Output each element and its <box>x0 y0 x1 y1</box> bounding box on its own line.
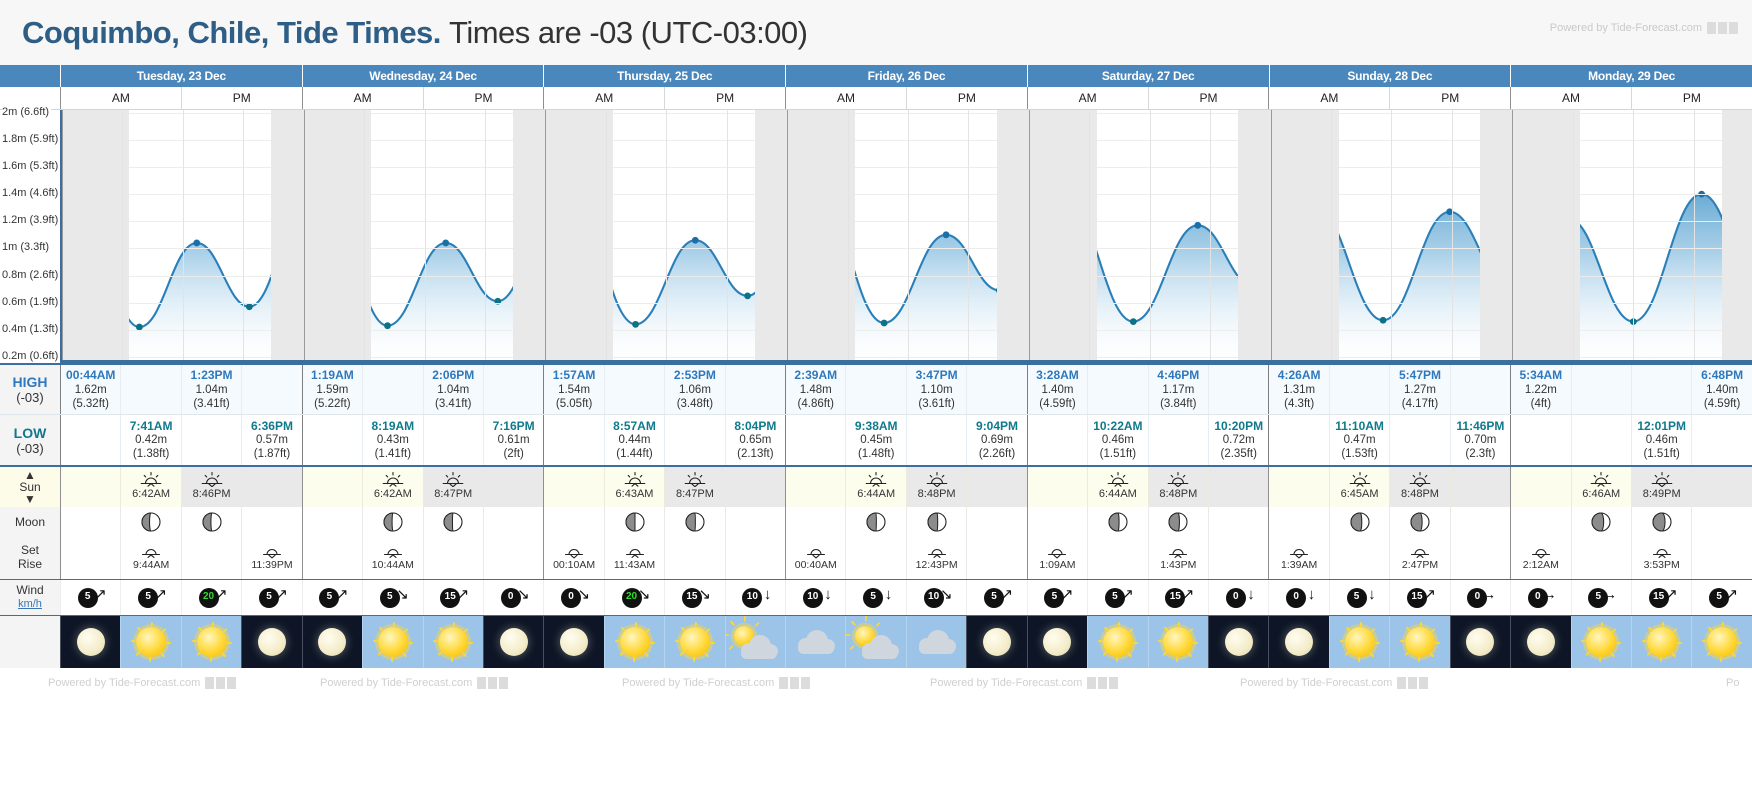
y-axis-tick-4: 1.2m (3.9ft) <box>2 214 60 226</box>
moon-phase-cell-empty <box>1268 507 1328 537</box>
moon-phase-cell-empty <box>483 507 543 537</box>
low-tide-cell-empty <box>906 415 966 465</box>
high-tide-cell-empty <box>1087 365 1147 414</box>
low-tide-height-m: 0.47m <box>1344 433 1376 447</box>
wind-cell[interactable]: 5↗ <box>120 580 180 615</box>
gridline-vertical <box>848 110 849 360</box>
sunset-cell[interactable]: 8:46PM <box>181 467 241 507</box>
wind-direction-arrow-icon: ↗ <box>1423 587 1436 602</box>
moon-phase-cell-empty <box>966 507 1026 537</box>
moon-phase-cell[interactable] <box>1571 507 1631 537</box>
moon-icon <box>1285 628 1313 656</box>
weather-cell[interactable] <box>302 616 362 668</box>
tide-point-high-2[interactable] <box>193 240 200 247</box>
moon-phase-icon <box>866 512 886 532</box>
low-tide-cell[interactable]: 7:16PM0.61m(2ft) <box>483 415 543 465</box>
high-tide-cell[interactable]: 5:34AM1.22m(4ft) <box>1510 365 1570 414</box>
wind-cell[interactable]: 15↗ <box>1148 580 1208 615</box>
day-header-0[interactable]: Tuesday, 23 Dec <box>60 65 302 87</box>
day-header-1[interactable]: Wednesday, 24 Dec <box>302 65 544 87</box>
wind-cell[interactable]: 20↘ <box>604 580 664 615</box>
wind-badge: 5↘ <box>378 585 408 611</box>
moonrise-icon <box>1289 545 1309 559</box>
wind-direction-arrow-icon: ↓ <box>885 587 893 602</box>
moonset-icon <box>141 545 161 559</box>
moon-event-cell[interactable]: 1:39AM <box>1268 537 1328 579</box>
sun-icon <box>1647 627 1677 657</box>
high-tide-time: 5:47PM <box>1399 368 1441 383</box>
wind-direction-arrow-icon: → <box>1602 587 1617 602</box>
high-tide-height-ft: (3.41ft) <box>193 397 229 411</box>
moonrise-icon <box>1289 545 1309 559</box>
weather-cell[interactable] <box>120 616 180 668</box>
high-tide-height-ft: (4ft) <box>1531 397 1551 411</box>
day-header-2[interactable]: Thursday, 25 Dec <box>543 65 785 87</box>
low-tide-height-ft: (1.44ft) <box>616 447 652 461</box>
high-tide-cell[interactable]: 4:26AM1.31m(4.3ft) <box>1268 365 1328 414</box>
weather-icon-row <box>0 616 1752 668</box>
moon-event-cell[interactable]: 1:09AM <box>1027 537 1087 579</box>
sunset-cell[interactable]: 8:48PM <box>1389 467 1449 507</box>
sunset-cell[interactable]: 8:48PM <box>906 467 966 507</box>
weather-cell[interactable] <box>60 616 120 668</box>
wind-cell[interactable]: 5↘ <box>362 580 422 615</box>
low-tide-cell[interactable]: 7:41AM0.42m(1.38ft) <box>120 415 180 465</box>
low-tide-height-ft: (1.51ft) <box>1100 447 1136 461</box>
low-tide-cell-empty <box>664 415 724 465</box>
weather-cell[interactable] <box>241 616 301 668</box>
tide-point-low-7[interactable] <box>494 298 501 305</box>
sun-icon <box>197 627 227 657</box>
weather-cell[interactable] <box>906 616 966 668</box>
wind-badge: 15↘ <box>680 585 710 611</box>
night-band <box>755 110 787 360</box>
moon-phase-cell[interactable] <box>604 507 664 537</box>
weather-cell[interactable] <box>423 616 483 668</box>
moon-event-cell[interactable]: 2:12AM <box>1510 537 1570 579</box>
wind-cell[interactable]: 5↗ <box>1691 580 1751 615</box>
weather-cell[interactable] <box>1208 616 1268 668</box>
moon-event-cell[interactable]: 10:44AM <box>362 537 422 579</box>
moon-phase-icon <box>383 512 403 532</box>
low-tide-cell[interactable]: 9:38AM0.45m(1.48ft) <box>845 415 905 465</box>
tide-point-low-11[interactable] <box>744 292 751 299</box>
wind-cell[interactable]: 5↗ <box>60 580 120 615</box>
sunset-icon <box>201 472 223 487</box>
moon-phase-icon <box>1350 512 1370 532</box>
high-tide-height-ft: (3.61ft) <box>918 397 954 411</box>
moon-event-cell-empty <box>423 537 483 579</box>
wind-cell[interactable]: 0↘ <box>543 580 603 615</box>
wind-cell[interactable]: 5↓ <box>1329 580 1389 615</box>
low-tide-cell-empty <box>785 415 845 465</box>
wind-cell[interactable]: 15↗ <box>423 580 483 615</box>
high-tide-cell-empty <box>966 365 1026 414</box>
sunrise-cell[interactable]: 6:42AM <box>362 467 422 507</box>
night-band <box>545 110 613 360</box>
high-tide-cell[interactable]: 5:47PM1.27m(4.17ft) <box>1389 365 1449 414</box>
high-tide-height-ft: (4.86ft) <box>798 397 834 411</box>
high-tide-time: 3:47PM <box>916 368 958 383</box>
wind-cell[interactable]: 5↗ <box>966 580 1026 615</box>
sun-row-label: ▲ Sun ▼ <box>0 467 60 507</box>
moon-icon <box>1527 628 1555 656</box>
wind-cell[interactable]: 0→ <box>1450 580 1510 615</box>
moon-phase-cell[interactable] <box>120 507 180 537</box>
moon-phase-icon <box>685 512 705 532</box>
low-tide-cell[interactable]: 10:20PM0.72m(2.35ft) <box>1208 415 1268 465</box>
wind-unit-link[interactable]: km/h <box>18 598 42 611</box>
day-header-3[interactable]: Friday, 26 Dec <box>785 65 1027 87</box>
moon-event-cell[interactable]: 11:43AM <box>604 537 664 579</box>
wind-direction-arrow-icon: ↗ <box>1061 587 1074 602</box>
wind-cell[interactable]: 0↓ <box>1208 580 1268 615</box>
sun-cell-empty <box>1208 467 1268 507</box>
moon-event-time: 2:12AM <box>1523 559 1559 572</box>
gridline-vertical <box>122 110 123 360</box>
moon-phase-cell[interactable] <box>845 507 905 537</box>
footer-logo-icons <box>779 677 810 689</box>
moon-phase-cell[interactable] <box>1087 507 1147 537</box>
sunset-cell[interactable]: 8:49PM <box>1631 467 1691 507</box>
ampm-header-1-am: AM <box>302 87 423 109</box>
high-tide-time: 2:53PM <box>674 368 716 383</box>
night-band <box>1512 110 1580 360</box>
tide-point-high-14[interactable] <box>943 231 950 238</box>
high-tide-height-m: 1.54m <box>558 383 590 397</box>
high-tide-height-ft: (4.59ft) <box>1039 397 1075 411</box>
sun-icon <box>438 627 468 657</box>
gridline-vertical <box>1512 110 1513 360</box>
high-tide-row-label: HIGH (-03) <box>0 365 60 414</box>
high-tide-time: 2:06PM <box>432 368 474 383</box>
sunset-cell[interactable]: 8:47PM <box>664 467 724 507</box>
moon-event-cell[interactable]: 1:43PM <box>1148 537 1208 579</box>
moon-phase-cell-empty <box>1450 507 1510 537</box>
moonset-icon <box>383 545 403 559</box>
wind-direction-arrow-icon: ↓ <box>824 587 832 602</box>
moon-icon <box>500 628 528 656</box>
moon-icon <box>983 628 1011 656</box>
wind-direction-arrow-icon: ↘ <box>698 587 711 602</box>
weather-cell[interactable] <box>1691 616 1751 668</box>
low-tide-time: 10:22AM <box>1093 419 1142 434</box>
sun-icon <box>1163 627 1193 657</box>
low-tide-cell[interactable]: 8:57AM0.44m(1.44ft) <box>604 415 664 465</box>
wind-direction-arrow-icon: ↗ <box>1726 587 1739 602</box>
moon-row-label: Moon <box>0 507 60 537</box>
wind-badge: 5↗ <box>317 585 347 611</box>
wind-row: Wind km/h 5↗5↗20↗5↗5↗5↘15↗0↘0↘20↘15↘10↓1… <box>0 579 1752 616</box>
moon-event-cell-empty <box>302 537 362 579</box>
high-tide-height-ft: (4.3ft) <box>1284 397 1314 411</box>
high-tide-cell[interactable]: 2:06PM1.04m(3.41ft) <box>423 365 483 414</box>
sunrise-cell[interactable]: 6:43AM <box>604 467 664 507</box>
tide-point-low-3[interactable] <box>246 303 253 310</box>
tide-forecast-page: Coquimbo, Chile, Tide Times. Times are -… <box>0 0 1752 787</box>
tide-point-low-13[interactable] <box>881 320 888 327</box>
weather-cell[interactable] <box>1450 616 1510 668</box>
low-tide-cell[interactable]: 11:46PM0.70m(2.3ft) <box>1450 415 1510 465</box>
moon-phase-icon <box>927 512 947 532</box>
high-tide-cell[interactable]: 3:28AM1.40m(4.59ft) <box>1027 365 1087 414</box>
weather-cell[interactable] <box>1027 616 1087 668</box>
moonset-icon <box>1652 545 1672 559</box>
tide-point-high-18[interactable] <box>1194 222 1201 229</box>
sunset-time: 8:47PM <box>434 488 472 501</box>
wind-cell[interactable]: 15↗ <box>1389 580 1449 615</box>
low-tide-time: 11:46PM <box>1456 419 1504 434</box>
footer-credit-label: Powered by Tide-Forecast.com <box>930 677 1082 689</box>
night-band <box>787 110 855 360</box>
low-tide-row-label: LOW (-03) <box>0 415 60 465</box>
weather-cell[interactable] <box>543 616 603 668</box>
sunset-icon <box>684 472 706 487</box>
high-tide-cell[interactable]: 2:53PM1.06m(3.48ft) <box>664 365 724 414</box>
wind-cell[interactable]: 10↓ <box>785 580 845 615</box>
moon-event-cell-empty <box>966 537 1026 579</box>
wind-badge: 0↘ <box>499 585 529 611</box>
moon-event-cell[interactable]: 11:39PM <box>241 537 301 579</box>
moon-setrise-row: Set Rise 9:44AM 11:39PM 10:44AM 00:10AM <box>0 537 1752 579</box>
moon-phase-icon <box>625 512 645 532</box>
ampm-header-4-pm: PM <box>1148 87 1269 109</box>
wind-cell[interactable]: 0↘ <box>483 580 543 615</box>
high-tide-time: 1:57AM <box>553 368 596 383</box>
sun-down-arrow-icon: ▼ <box>24 493 36 505</box>
sunrise-icon <box>865 472 887 487</box>
moon-phase-icon <box>685 512 705 532</box>
moon-event-cell[interactable]: 2:47PM <box>1389 537 1449 579</box>
high-tide-cell[interactable]: 1:23PM1.04m(3.41ft) <box>181 365 241 414</box>
moon-phase-row: Moon <box>0 507 1752 537</box>
low-tide-cell[interactable]: 8:19AM0.43m(1.41ft) <box>362 415 422 465</box>
weather-cell[interactable] <box>966 616 1026 668</box>
moon-phase-cell[interactable] <box>1389 507 1449 537</box>
low-tide-cell[interactable]: 11:10AM0.47m(1.53ft) <box>1329 415 1389 465</box>
low-tide-cell-empty <box>1571 415 1631 465</box>
high-tide-cell[interactable]: 1:57AM1.54m(5.05ft) <box>543 365 603 414</box>
high-tide-row: HIGH (-03) 00:44AM1.62m(5.32ft)1:23PM1.0… <box>0 363 1752 415</box>
sunrise-cell[interactable]: 6:45AM <box>1329 467 1389 507</box>
wind-cell[interactable]: 5↗ <box>302 580 362 615</box>
wind-direction-arrow-icon: ↗ <box>457 587 470 602</box>
weather-cell[interactable] <box>483 616 543 668</box>
weather-cell[interactable] <box>725 616 785 668</box>
moon-phase-cell[interactable] <box>906 507 966 537</box>
cloud-icon <box>918 630 956 654</box>
ampm-header-0-am: AM <box>60 87 181 109</box>
high-tide-cell[interactable]: 4:46PM1.17m(3.84ft) <box>1148 365 1208 414</box>
wind-cell[interactable]: 20↗ <box>181 580 241 615</box>
gridline-vertical <box>1271 110 1272 360</box>
weather-cell[interactable] <box>1510 616 1570 668</box>
moon-event-cell-empty <box>664 537 724 579</box>
wind-cell[interactable]: 0→ <box>1510 580 1570 615</box>
gridline-vertical <box>304 110 305 360</box>
high-tide-cell-empty <box>725 365 785 414</box>
wind-cell[interactable]: 5↗ <box>1027 580 1087 615</box>
low-tide-height-ft: (2ft) <box>503 447 523 461</box>
sun-icon <box>1586 627 1616 657</box>
tide-point-high-10[interactable] <box>692 237 699 244</box>
wind-badge: 15↗ <box>1163 585 1193 611</box>
weather-cell[interactable] <box>1087 616 1147 668</box>
high-tide-cell[interactable]: 00:44AM1.62m(5.32ft) <box>60 365 120 414</box>
high-tide-cell-empty <box>120 365 180 414</box>
sunrise-icon <box>624 472 646 487</box>
sunrise-icon <box>865 472 887 487</box>
sunrise-time: 6:44AM <box>1099 488 1137 501</box>
day-header-6[interactable]: Monday, 29 Dec <box>1510 65 1752 87</box>
weather-cell[interactable] <box>1148 616 1208 668</box>
logo-icon <box>779 677 788 689</box>
moon-event-cell[interactable]: 3:53PM <box>1631 537 1691 579</box>
header-credit-label: Powered by Tide-Forecast.com <box>1550 22 1702 34</box>
high-tide-time: 1:19AM <box>311 368 354 383</box>
gridline-vertical <box>1029 110 1030 360</box>
high-tide-cell[interactable]: 6:48PM1.40m(4.59ft) <box>1691 365 1751 414</box>
low-tide-cell[interactable]: 9:04PM0.69m(2.26ft) <box>966 415 1026 465</box>
wind-badge: 0↓ <box>1284 585 1314 611</box>
low-tide-cell-empty <box>1027 415 1087 465</box>
wind-badge: 0↘ <box>559 585 589 611</box>
gridline-vertical <box>666 110 667 360</box>
moon-phase-cell[interactable] <box>181 507 241 537</box>
wind-cell[interactable]: 10↘ <box>906 580 966 615</box>
tide-point-low-9[interactable] <box>632 321 639 328</box>
moon-phase-icon <box>202 512 222 532</box>
low-tide-time: 6:36PM <box>251 419 293 434</box>
weather-cell[interactable] <box>845 616 905 668</box>
wind-direction-arrow-icon: → <box>1542 587 1557 602</box>
high-tide-cell[interactable]: 3:47PM1.10m(3.61ft) <box>906 365 966 414</box>
wind-cell[interactable]: 15↘ <box>664 580 724 615</box>
moon-phase-cell[interactable] <box>1148 507 1208 537</box>
gridline-vertical <box>1573 110 1574 360</box>
wind-cell[interactable]: 10↓ <box>725 580 785 615</box>
low-tide-time: 8:57AM <box>613 419 656 434</box>
moon-phase-cell[interactable] <box>1329 507 1389 537</box>
day-header-4[interactable]: Saturday, 27 Dec <box>1027 65 1269 87</box>
sunset-cell[interactable]: 8:47PM <box>423 467 483 507</box>
wind-cell[interactable]: 5↗ <box>241 580 301 615</box>
sun-cell-empty <box>725 467 785 507</box>
moon-event-cell[interactable]: 00:40AM <box>785 537 845 579</box>
wind-cell[interactable]: 15↗ <box>1631 580 1691 615</box>
high-tide-cell-empty <box>1450 365 1510 414</box>
low-tide-cell[interactable]: 12:01PM0.46m(1.51ft) <box>1631 415 1691 465</box>
weather-cell[interactable] <box>664 616 724 668</box>
moon-event-cell[interactable]: 9:44AM <box>120 537 180 579</box>
high-tide-cell[interactable]: 2:39AM1.48m(4.86ft) <box>785 365 845 414</box>
sunrise-cell[interactable]: 6:42AM <box>120 467 180 507</box>
moon-event-cell[interactable]: 12:43PM <box>906 537 966 579</box>
sunrise-cell[interactable]: 6:46AM <box>1571 467 1631 507</box>
sun-cell-empty <box>1268 467 1328 507</box>
footer-credit: Powered by Tide-Forecast.com <box>622 677 810 689</box>
tide-point-low-17[interactable] <box>1130 318 1137 325</box>
day-header-label: Saturday, 27 Dec <box>1102 69 1195 83</box>
wind-cell[interactable]: 5↓ <box>845 580 905 615</box>
moon-phase-cell[interactable] <box>664 507 724 537</box>
sun-icon <box>620 627 650 657</box>
low-tide-cell[interactable]: 6:36PM0.57m(1.87ft) <box>241 415 301 465</box>
low-tide-height-m: 0.44m <box>619 433 651 447</box>
sunset-icon <box>926 472 948 487</box>
weather-cell[interactable] <box>1571 616 1631 668</box>
moon-icon <box>1466 628 1494 656</box>
high-tide-cell-empty <box>1631 365 1691 414</box>
weather-cell[interactable] <box>181 616 241 668</box>
low-tide-time: 11:10AM <box>1335 419 1384 434</box>
moonrise-icon <box>564 545 584 559</box>
moon-phase-cell[interactable] <box>1631 507 1691 537</box>
sunrise-cell[interactable]: 6:44AM <box>1087 467 1147 507</box>
high-tide-time: 4:46PM <box>1157 368 1199 383</box>
moon-phase-icon <box>383 512 403 532</box>
ampm-header-6-pm: PM <box>1631 87 1752 109</box>
high-tide-cell[interactable]: 1:19AM1.59m(5.22ft) <box>302 365 362 414</box>
weather-cell[interactable] <box>1389 616 1449 668</box>
weather-cell[interactable] <box>1631 616 1691 668</box>
moon-event-cell[interactable]: 00:10AM <box>543 537 603 579</box>
moon-phase-icon <box>1410 512 1430 532</box>
moonrise-icon <box>1531 545 1551 559</box>
moonset-icon <box>625 545 645 559</box>
moon-event-time: 11:43AM <box>614 559 655 572</box>
sunrise-time: 6:42AM <box>132 488 170 501</box>
moon-phase-cell[interactable] <box>362 507 422 537</box>
weather-cell[interactable] <box>362 616 422 668</box>
high-tide-height-m: 1.04m <box>196 383 228 397</box>
y-axis-tick-7: 0.6m (1.9ft) <box>2 296 60 308</box>
day-header-5[interactable]: Sunday, 28 Dec <box>1269 65 1511 87</box>
night-band <box>1271 110 1339 360</box>
low-tide-cell[interactable]: 8:04PM0.65m(2.13ft) <box>725 415 785 465</box>
tide-point-low-21[interactable] <box>1380 317 1387 324</box>
wind-cell[interactable]: 5→ <box>1571 580 1631 615</box>
moon-phase-cell[interactable] <box>423 507 483 537</box>
night-band <box>997 110 1029 360</box>
high-tide-height-ft: (5.22ft) <box>314 397 350 411</box>
wind-direction-arrow-icon: ↗ <box>336 587 349 602</box>
weather-cell[interactable] <box>1268 616 1328 668</box>
wind-direction-arrow-icon: ↘ <box>396 587 409 602</box>
gridline-vertical <box>183 110 184 360</box>
wind-cell[interactable]: 5↗ <box>1087 580 1147 615</box>
night-band <box>271 110 304 360</box>
weather-cell[interactable] <box>604 616 664 668</box>
sunset-cell[interactable]: 8:48PM <box>1148 467 1208 507</box>
moon-phase-icon <box>141 512 161 532</box>
moon-phase-cell-empty <box>725 507 785 537</box>
ampm-header-0-pm: PM <box>181 87 302 109</box>
low-tide-cell[interactable]: 10:22AM0.46m(1.51ft) <box>1087 415 1147 465</box>
ampm-header-6-am: AM <box>1510 87 1631 109</box>
moon-phase-icon <box>1591 512 1611 532</box>
logo-icon <box>488 677 497 689</box>
weather-cell[interactable] <box>785 616 845 668</box>
sunrise-cell[interactable]: 6:44AM <box>845 467 905 507</box>
low-tide-time: 7:16PM <box>493 419 535 434</box>
tide-point-high-6[interactable] <box>442 240 449 247</box>
tide-point-low-5[interactable] <box>384 322 391 329</box>
high-tide-height-m: 1.40m <box>1041 383 1073 397</box>
weather-cell[interactable] <box>1329 616 1389 668</box>
wind-cell[interactable]: 0↓ <box>1268 580 1328 615</box>
sunrise-icon <box>1590 472 1612 487</box>
